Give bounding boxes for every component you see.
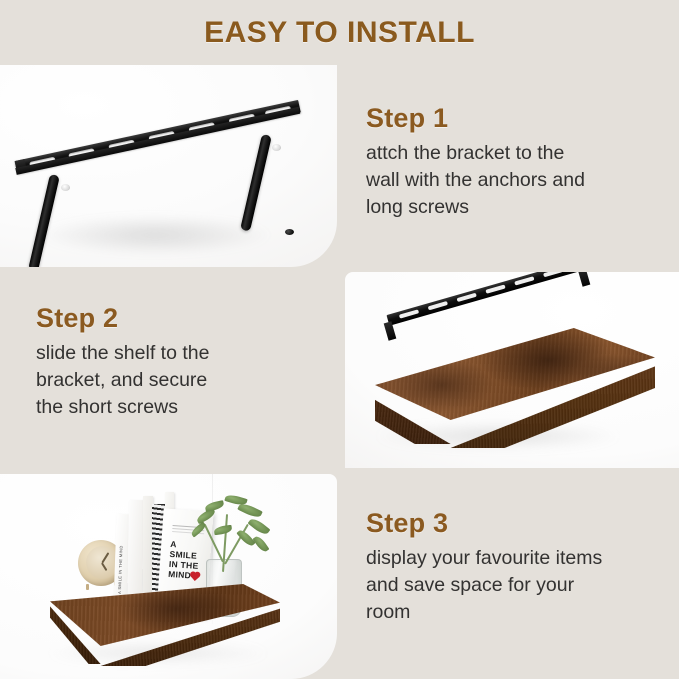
step-3-body: display your favourite items and save sp… (366, 545, 671, 626)
bracket-slot (457, 293, 477, 302)
bracket-arm-left (28, 174, 60, 267)
bracket-slot (485, 284, 505, 293)
step-2-body: slide the shelf to the bracket, and secu… (36, 340, 326, 421)
bracket-slot (428, 301, 448, 310)
step-2-heading: Step 2 (36, 303, 326, 334)
clock-leg-left (86, 584, 89, 590)
bracket-arm-right (240, 134, 272, 232)
bracket-arm-left-screw-boss (61, 184, 70, 191)
step-3-heading: Step 3 (366, 508, 671, 539)
shelf-mounted-bracket (386, 272, 581, 326)
bracket-foot-right (578, 272, 591, 287)
rail-end-cap-right (15, 100, 298, 161)
clock-hour-hand (101, 562, 107, 570)
wall-bracket-photo (0, 65, 337, 267)
step-2-photo-panel (345, 272, 679, 468)
bracket-arm-right-tip (285, 229, 294, 235)
step-1-body: attch the bracket to the wall with the a… (366, 140, 666, 221)
step-1-photo-panel (0, 65, 337, 267)
plant-leaf (214, 525, 233, 535)
infographic-page: EASY TO INSTALL (0, 0, 679, 679)
shelf-board-top-surface (375, 328, 655, 420)
step-1-heading: Step 1 (366, 103, 666, 134)
plant-leaf (248, 516, 271, 537)
bracket-drop-shadow (40, 215, 270, 255)
plant-leaf (253, 534, 270, 553)
styled-shelf-top-surface (50, 584, 280, 646)
bracket-arm-right-screw-boss (272, 144, 281, 151)
bracket-slot (543, 272, 563, 277)
step-1-text-block: Step 1 attch the bracket to the wall wit… (366, 103, 666, 221)
bracket-slot (514, 276, 534, 285)
step-3-text-block: Step 3 display your favourite items and … (366, 508, 671, 626)
shelf-on-bracket-photo (345, 272, 679, 468)
book-spine-label: A SMILE IN THE MIND (117, 545, 124, 594)
page-title: EASY TO INSTALL (0, 16, 679, 50)
bracket-slot (399, 309, 419, 318)
step-3-photo-panel: A SMILE IN THE MIND A SMILE IN THE MIND (0, 474, 337, 679)
styled-shelf-photo: A SMILE IN THE MIND A SMILE IN THE MIND (0, 474, 337, 679)
step-2-text-block: Step 2 slide the shelf to the bracket, a… (36, 303, 326, 421)
plant-leaf (237, 501, 263, 520)
